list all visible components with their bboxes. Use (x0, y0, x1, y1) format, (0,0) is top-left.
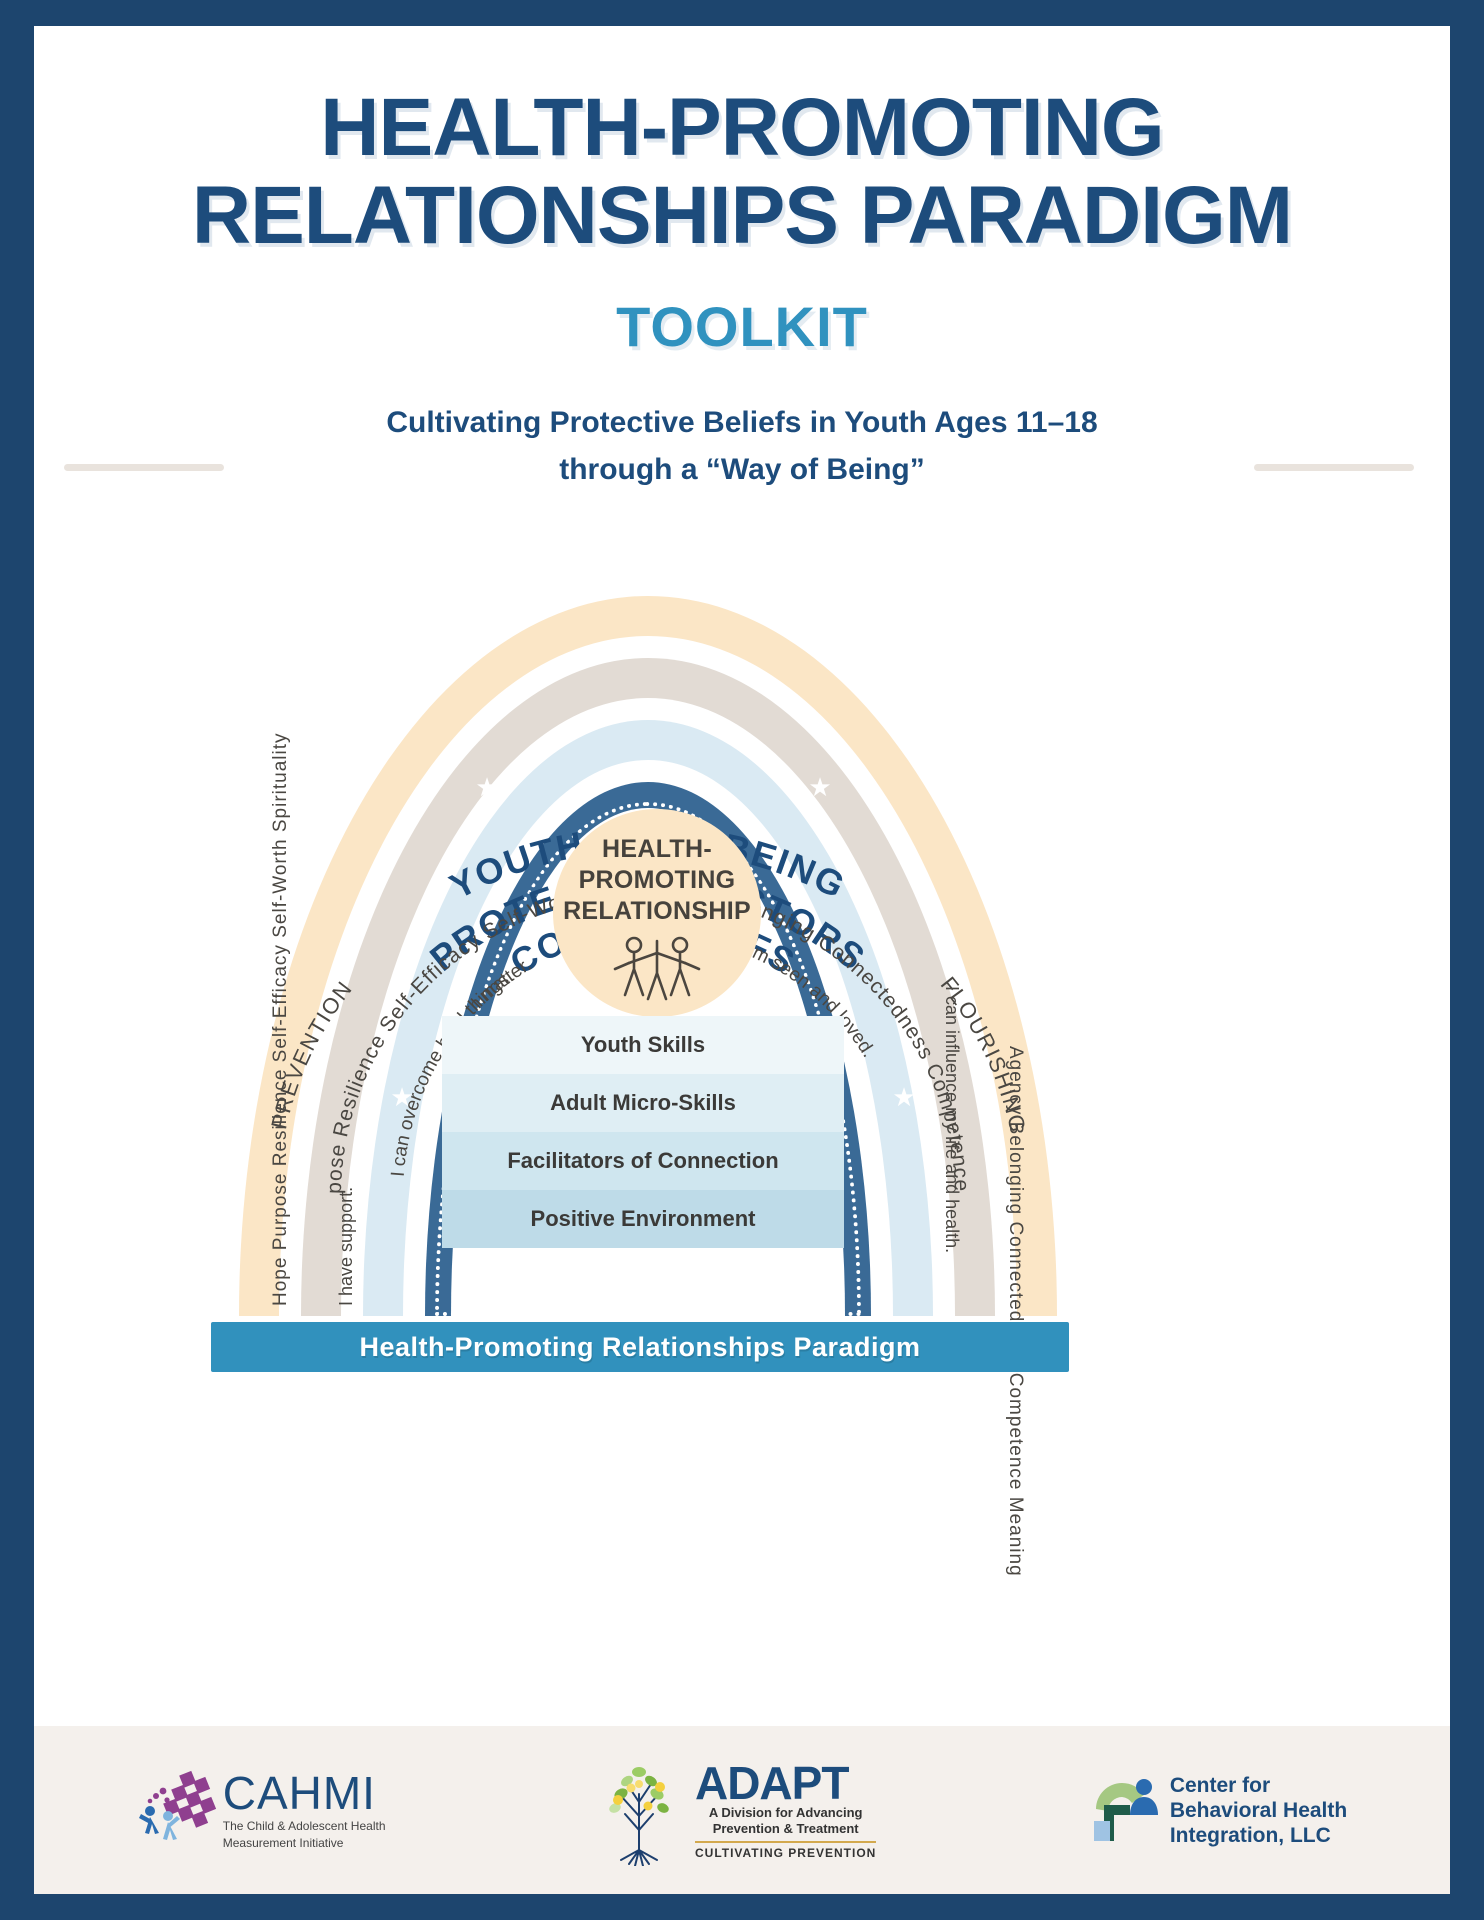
cahmi-sub-1: The Child & Adolescent Health (223, 1819, 386, 1833)
subtitle-line-2: through a “Way of Being” (34, 446, 1450, 493)
way-of-being-caption: Way of Being Strategies (379, 1268, 907, 1314)
strip-facilitators-of-connection: Facilitators of Connection (442, 1132, 844, 1190)
page-title: HEALTH-PROMOTING RELATIONSHIPS PARADIGM (34, 84, 1450, 260)
strip-positive-environment: Positive Environment (442, 1190, 844, 1248)
adapt-text: ADAPT A Division for Advancing Preventio… (695, 1761, 876, 1860)
paradigm-arch-diagram: YOUTH WELL-BEING PROTECTIVE FACTORS CORE… (34, 496, 1450, 1376)
title-line-1: HEALTH-PROMOTING (34, 84, 1450, 172)
logo-cahmi: CAHMI The Child & Adolescent Health Meas… (137, 1767, 386, 1853)
cbhi-line-2: Behavioral Health (1170, 1798, 1347, 1823)
cahmi-name: CAHMI (223, 1770, 386, 1816)
adapt-tagline: CULTIVATING PREVENTION (695, 1846, 876, 1860)
center-label-line-3: RELATIONSHIP (530, 896, 784, 927)
subtitle: Cultivating Protective Beliefs in Youth … (34, 399, 1450, 493)
cbhi-mark-icon (1082, 1771, 1160, 1849)
cahmi-mark-icon (137, 1767, 223, 1853)
adapt-sub-2: Prevention & Treatment (695, 1821, 876, 1837)
adapt-sub-1: A Division for Advancing (695, 1805, 876, 1821)
cbhi-line-1: Center for (1170, 1773, 1347, 1798)
cbhi-text: Center for Behavioral Health Integration… (1170, 1773, 1347, 1848)
cahmi-sub-2: Measurement Initiative (223, 1836, 386, 1850)
subtitle-line-1: Cultivating Protective Beliefs in Youth … (34, 399, 1450, 446)
leg-label-core-right: I can influence my life and health. (934, 986, 962, 1306)
footer-logos: CAHMI The Child & Adolescent Health Meas… (34, 1726, 1450, 1894)
center-label-line-1: HEALTH- (530, 834, 784, 865)
toolkit-label: TOOLKIT (34, 294, 1450, 359)
center-label-line-2: PROMOTING (530, 865, 784, 896)
leg-label-protective-left: Hope Purpose Resilience Self-Efficacy Se… (270, 1106, 300, 1306)
logo-cbhi: Center for Behavioral Health Integration… (1082, 1771, 1347, 1849)
cbhi-line-3: Integration, LLC (1170, 1823, 1347, 1848)
title-line-2: RELATIONSHIPS PARADIGM (34, 172, 1450, 260)
two-people-icon (606, 933, 708, 1003)
adapt-tree-icon (591, 1754, 687, 1866)
leg-label-protective-right: Agency Belonging Connectedness Competenc… (996, 1046, 1026, 1306)
strategy-strips: Youth Skills Adult Micro-Skills Facilita… (442, 1016, 844, 1268)
strip-youth-skills: Youth Skills (442, 1016, 844, 1074)
leg-label-core-left: I have support. (336, 1126, 364, 1306)
cahmi-text: CAHMI The Child & Adolescent Health Meas… (223, 1770, 386, 1850)
document-page: HEALTH-PROMOTING RELATIONSHIPS PARADIGM … (34, 26, 1450, 1894)
strip-adult-micro-skills: Adult Micro-Skills (442, 1074, 844, 1132)
adapt-divider (695, 1841, 876, 1843)
center-label: HEALTH- PROMOTING RELATIONSHIP (530, 834, 784, 927)
logo-adapt: ADAPT A Division for Advancing Preventio… (591, 1754, 876, 1866)
adapt-name: ADAPT (695, 1761, 876, 1805)
paradigm-bar: Health-Promoting Relationships Paradigm (211, 1322, 1069, 1372)
